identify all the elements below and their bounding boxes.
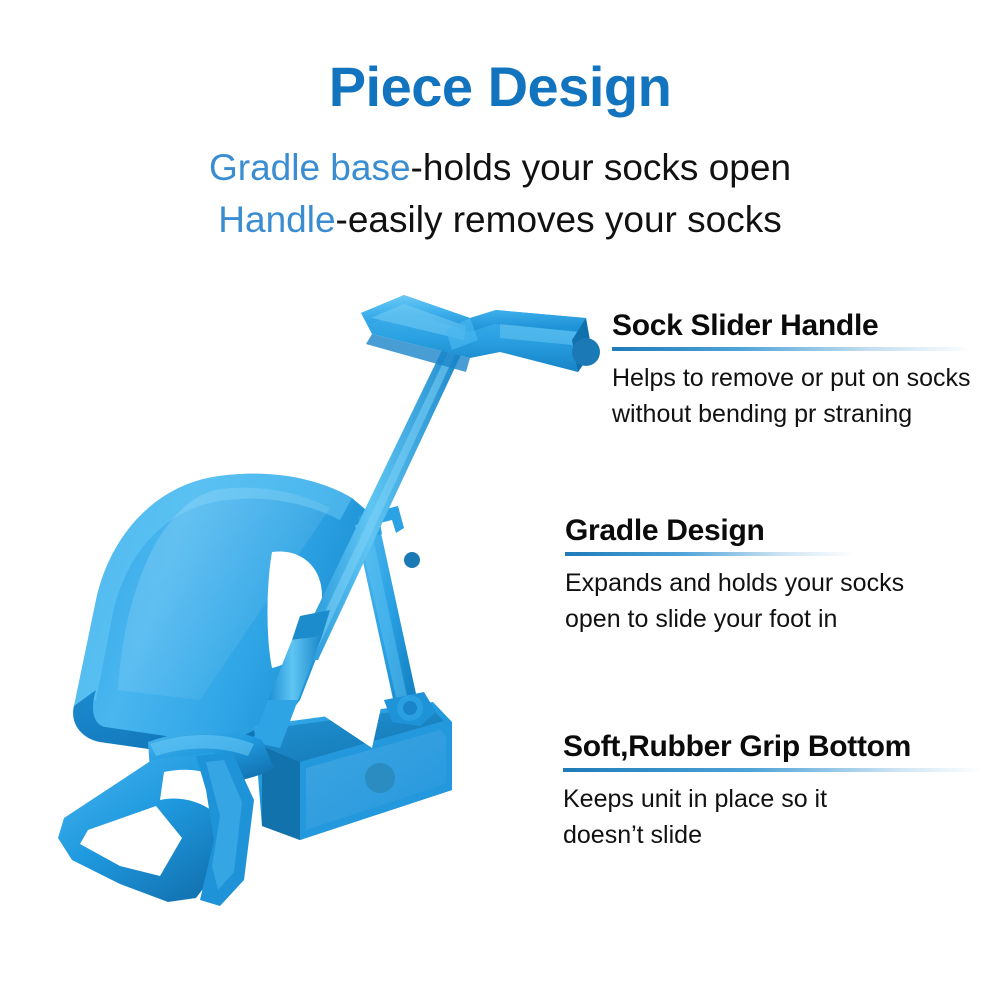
- callout-body-line-2-1: Expands and holds your socks: [565, 566, 965, 602]
- callout-rule-2: [565, 552, 855, 556]
- product-infographic: Piece Design Gradle base-holds your sock…: [0, 0, 1000, 1000]
- connector-dot-2: [404, 552, 420, 568]
- callout-gradle-design: Gradle Design Expands and holds your soc…: [565, 514, 965, 637]
- callout-body-line-1-2: without bending pr straning: [612, 397, 992, 433]
- callout-soft-rubber-grip-bottom: Soft,Rubber Grip Bottom Keeps unit in pl…: [563, 730, 993, 853]
- callout-sock-slider-handle: Sock Slider Handle Helps to remove or pu…: [612, 309, 992, 432]
- callout-heading-3: Soft,Rubber Grip Bottom: [563, 730, 993, 764]
- callout-heading-1: Sock Slider Handle: [612, 309, 992, 343]
- callout-rule-3: [563, 768, 983, 772]
- callout-body-line-1-1: Helps to remove or put on socks: [612, 361, 992, 397]
- callout-heading-2: Gradle Design: [565, 514, 965, 548]
- callout-body-line-2-2: open to slide your foot in: [565, 602, 965, 638]
- connector-dot-1: [572, 338, 600, 366]
- rubber-grip-foot: [58, 730, 274, 906]
- callout-body-line-3-2: doesn’t slide: [563, 818, 993, 854]
- t-bar-handle: [361, 295, 592, 372]
- connector-dot-3: [365, 763, 395, 793]
- callout-body-line-3-1: Keeps unit in place so it: [563, 782, 993, 818]
- callout-rule-1: [612, 347, 972, 351]
